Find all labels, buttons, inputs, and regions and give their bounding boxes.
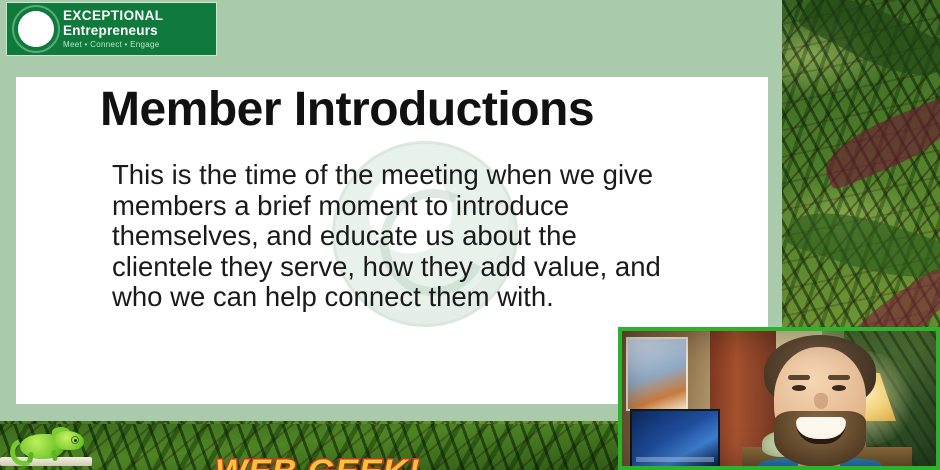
- participant-video-tile[interactable]: [618, 327, 940, 470]
- slide-body-text: This is the time of the meeting when we …: [112, 160, 672, 313]
- exceptional-entrepreneurs-logo: EXCEPTIONAL Entrepreneurs Meet • Connect…: [6, 2, 217, 56]
- e-circle-icon: [7, 3, 63, 55]
- logo-tagline: Meet • Connect • Engage: [63, 41, 210, 49]
- logo-line-2: Entrepreneurs: [63, 24, 210, 38]
- logo-text: EXCEPTIONAL Entrepreneurs Meet • Connect…: [63, 9, 216, 49]
- banner-word: WEB GEEK!: [215, 453, 420, 470]
- logo-line-1: EXCEPTIONAL: [63, 9, 210, 23]
- video-feed: [622, 331, 936, 466]
- page-title: Member Introductions: [100, 82, 740, 137]
- chameleon-icon: [8, 424, 94, 470]
- presentation-screen: Member Introductions This is the time of…: [0, 0, 940, 470]
